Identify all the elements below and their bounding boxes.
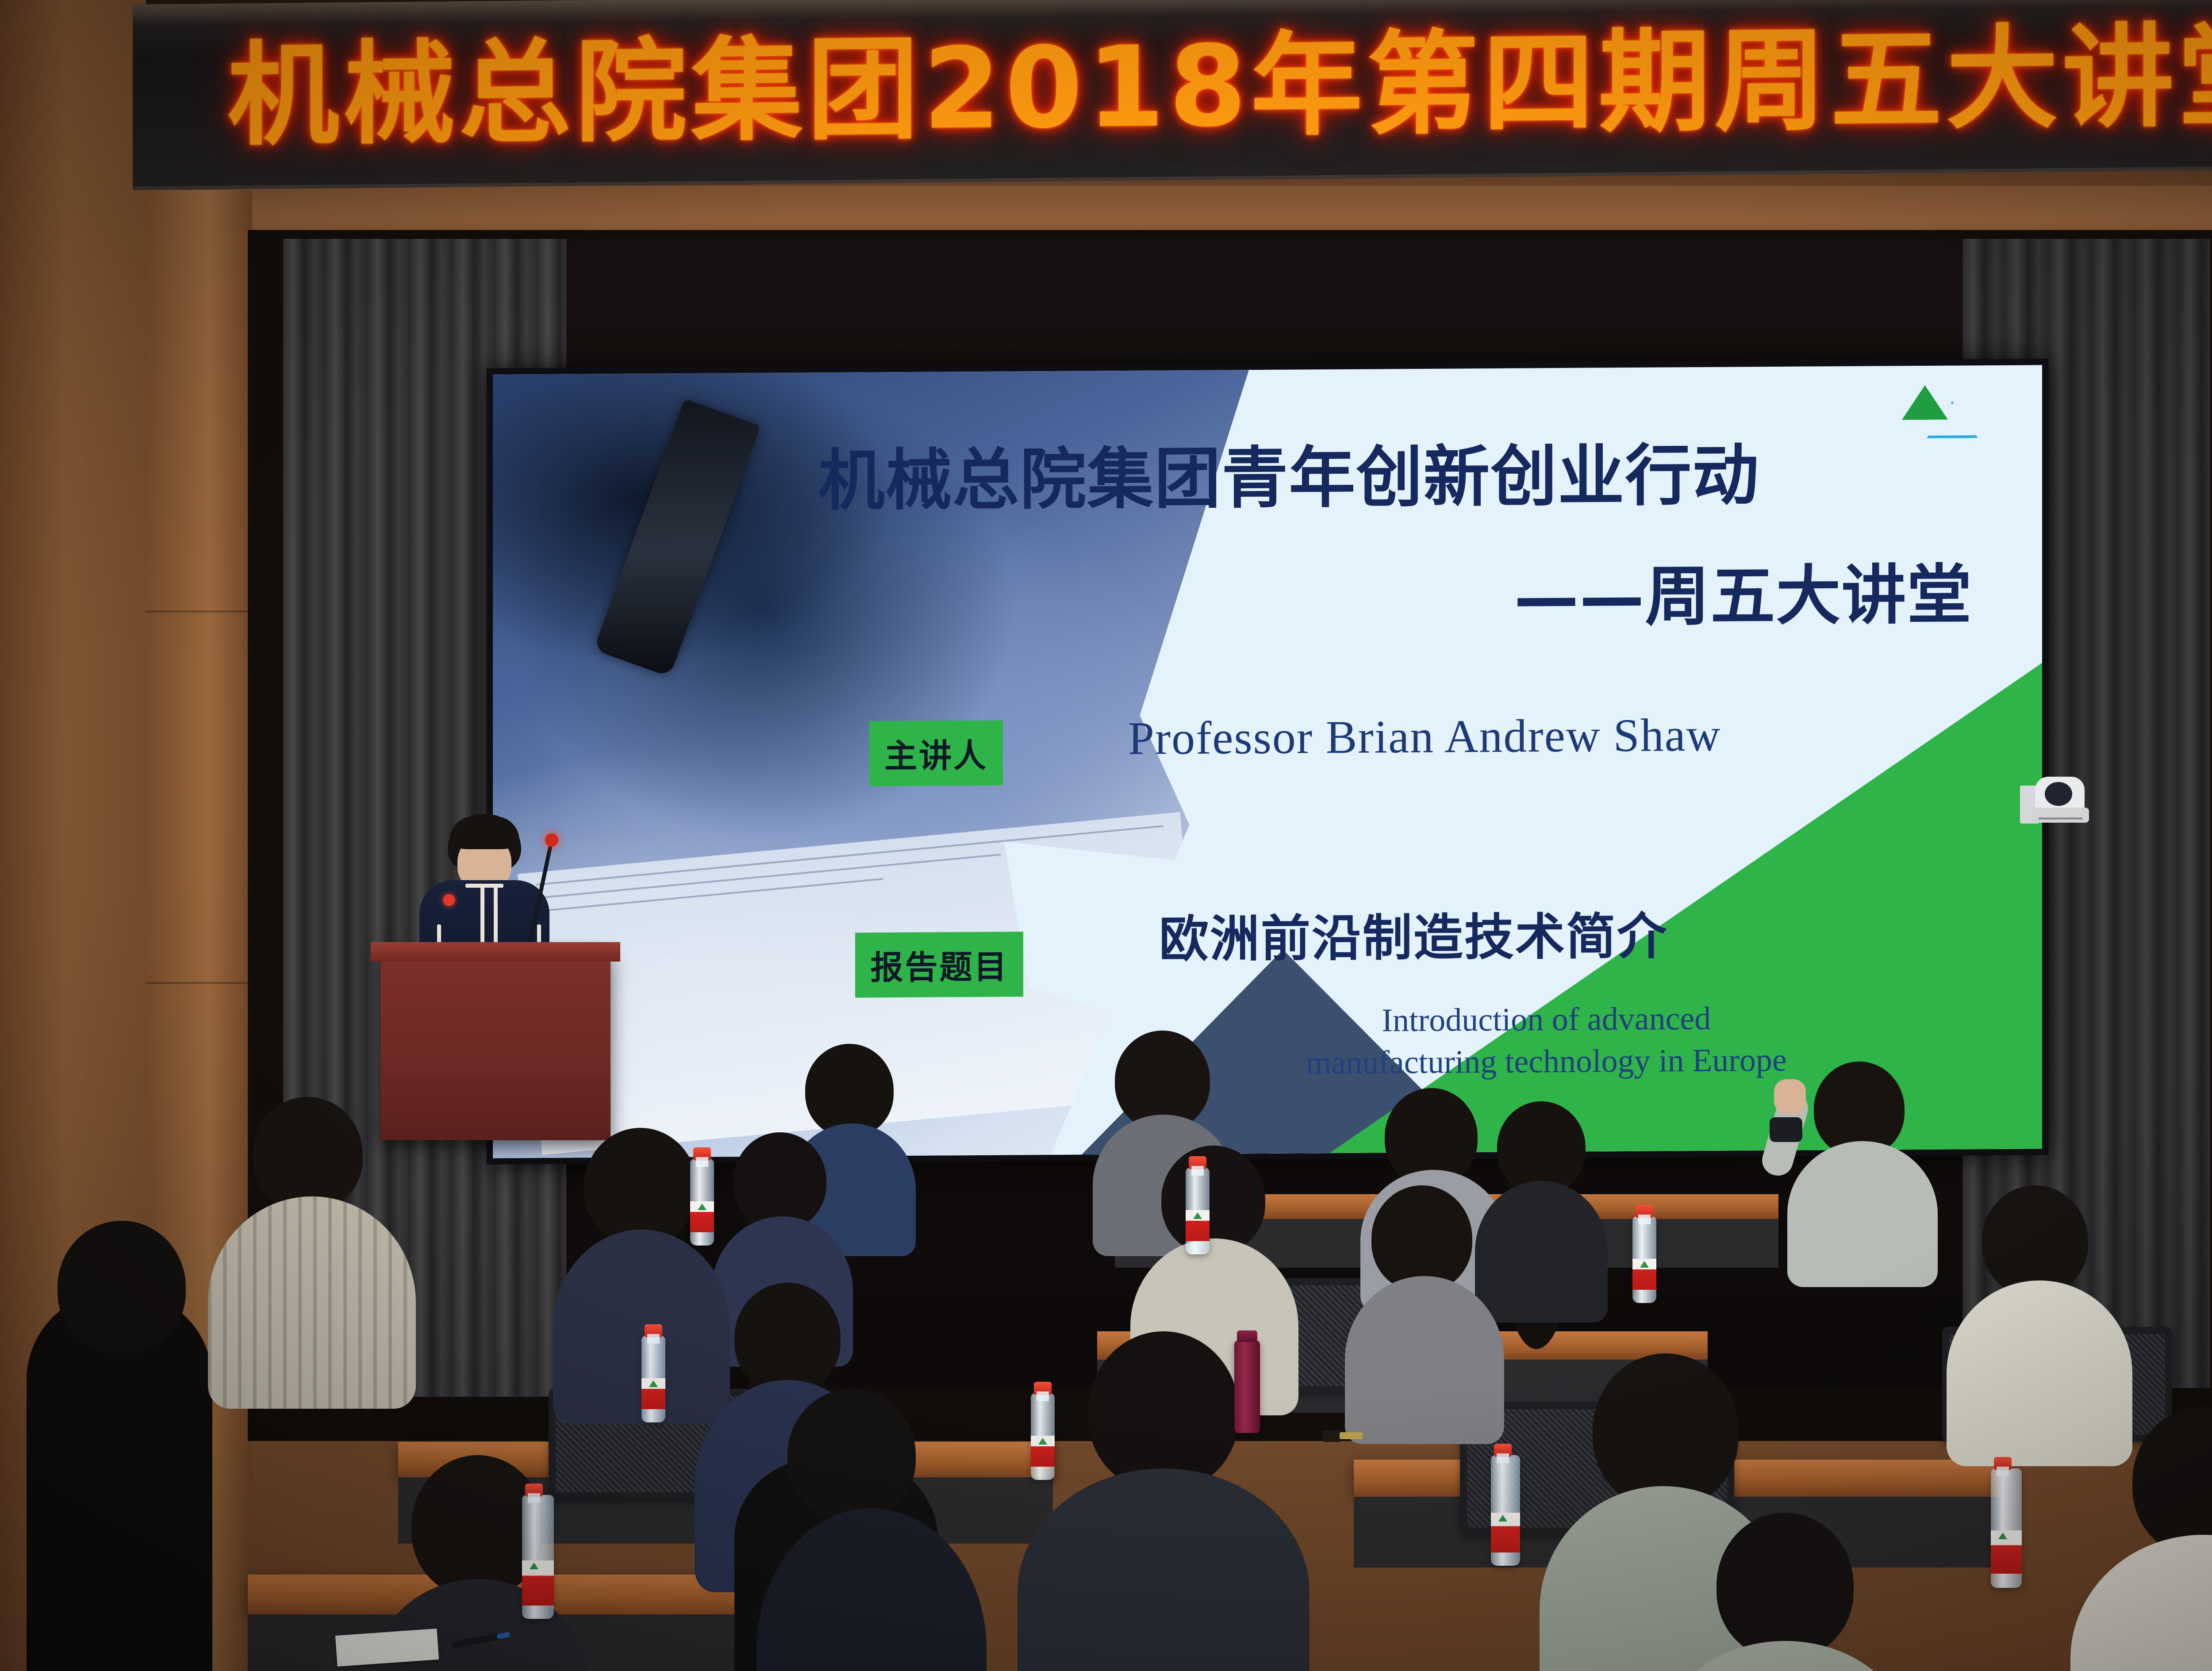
panel-seam [146,610,252,613]
bottle-label [1632,1259,1656,1290]
person-head [733,1132,826,1230]
wristwatch-icon [1770,1117,1802,1142]
person-torso [1475,1181,1608,1322]
bottle-label [1186,1210,1210,1241]
slide-speaker-name: Professor Brian Andrew Shaw [1128,708,1721,766]
ptz-camera-icon [2020,770,2091,828]
person-head [1161,1146,1265,1254]
bottle-label [522,1560,554,1606]
slide-title: 机械总院集团青年创新创业行动 [818,440,1996,517]
keys-on-desk [1323,1429,1363,1444]
bottle-neck [647,1334,660,1344]
person-head [1982,1185,2088,1296]
podium-top [371,942,620,962]
slide-topic-en-line2: manufacturing technology in Europe [1175,1039,1918,1085]
water-bottle [641,1336,665,1422]
slide-topic-cn: 欧洲前沿制造技术简介 [1159,897,1668,971]
thermos-bottle [1234,1340,1260,1433]
projection-screen-frame: 机械总院集团青年创新创业行动 ——周五大讲堂 主讲人 Professor Bri… [487,359,2048,1165]
person-head [584,1128,697,1245]
person-head [1088,1331,1239,1491]
shirt-stripes [208,1196,416,1409]
lapel-pin [443,894,455,906]
podium [380,950,611,1140]
panel-seam [146,982,252,984]
person-head [1593,1353,1739,1508]
bottle-neck [696,1157,708,1167]
person-torso [1345,1276,1504,1444]
water-bottle [690,1159,714,1246]
bottle-neck [1638,1215,1651,1224]
jacket-trim [465,884,503,888]
water-bottle [1031,1393,1055,1480]
presenter-fringe [449,816,519,849]
person-head [734,1283,841,1393]
led-banner-text: 机械总院集团2018年第四期周五大讲堂 [133,9,2212,164]
water-bottle [1491,1455,1520,1566]
badge-topic-label: 报告题目 [855,931,1023,997]
water-bottle [1632,1216,1656,1303]
microphone-head-icon [545,833,558,847]
slide-subtitle: ——周五大讲堂 [1514,561,1972,632]
person-head [805,1044,894,1137]
person-head [58,1221,186,1353]
raised-arm [1770,1079,1854,1172]
lecture-hall-scene: 机械总院集团2018年第四期周五大讲堂 机械总院集团青年创新创业行动 ——周五大… [0,0,2212,1671]
badge-speaker-label: 主讲人 [869,720,1003,786]
hand [1774,1079,1806,1114]
camera-lens-icon [2045,782,2072,806]
person-head [1371,1185,1472,1292]
camera-base [2032,808,2089,823]
bottle-neck [1997,1467,2009,1476]
bottle-label [690,1201,714,1232]
slide-logo [1902,385,1977,443]
person-head [1717,1513,1854,1659]
water-bottle [1186,1168,1210,1254]
person-head [787,1389,916,1522]
bottle-neck [1191,1166,1204,1176]
bottle-neck [1497,1453,1509,1463]
slide-topic-en: Introduction of advanced manufacturing t… [1175,996,1918,1085]
person-head [1497,1101,1586,1194]
projection-screen: 机械总院集团青年创新创业行动 ——周五大讲堂 主讲人 Professor Bri… [493,365,2042,1158]
bottle-label [1491,1513,1520,1552]
water-bottle [1991,1468,2022,1588]
bottle-neck [528,1493,540,1503]
bottle-label [1031,1436,1055,1467]
person-head [252,1097,363,1212]
bottle-label [1991,1530,2022,1574]
water-bottle [522,1495,554,1619]
triangle-outline-icon [1927,401,1978,438]
bottle-neck [1037,1391,1049,1401]
person-torso [1947,1280,2132,1466]
slide-topic-en-line1: Introduction of advanced [1175,996,1918,1043]
pen-illustration [593,399,760,677]
bottle-label [641,1378,665,1409]
led-banner: 机械总院集团2018年第四期周五大讲堂 [133,0,2212,190]
